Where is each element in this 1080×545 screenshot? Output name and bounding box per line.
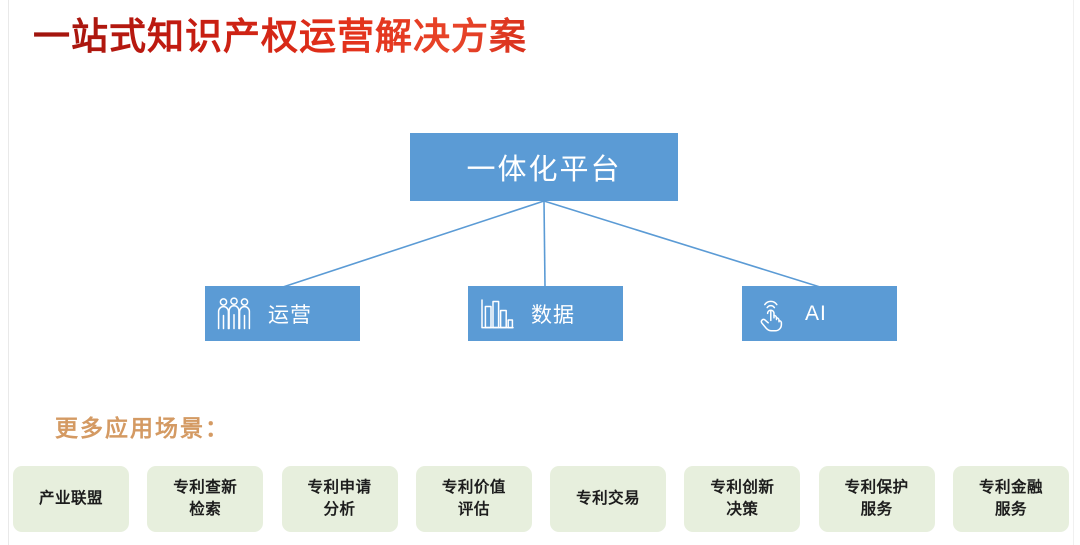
connector-line-operations	[283, 201, 544, 287]
touch-hand-icon	[751, 294, 791, 334]
connector-lines	[0, 0, 1080, 460]
scenario-chip[interactable]: 专利保护 服务	[819, 466, 935, 532]
scenario-chip-label: 专利交易	[576, 488, 640, 510]
scenario-chip-label: 专利申请 分析	[308, 477, 372, 521]
scenario-chip-list: 产业联盟 专利查新 检索 专利申请 分析 专利价值 评估 专利交易 专利创新 决…	[13, 466, 1069, 532]
leaf-node-operations[interactable]: 运营	[205, 286, 360, 341]
root-node-platform[interactable]: 一体化平台	[410, 133, 678, 201]
platform-diagram: 一体化平台 运营	[0, 0, 1080, 460]
scenario-chip-label: 专利创新 决策	[710, 477, 774, 521]
scenario-chip[interactable]: 产业联盟	[13, 466, 129, 532]
scenario-chip-label: 专利金融 服务	[979, 477, 1043, 521]
scenario-chip-label: 产业联盟	[39, 488, 103, 510]
three-people-icon	[214, 294, 254, 334]
scenario-chip[interactable]: 专利申请 分析	[282, 466, 398, 532]
scenario-chip-label: 专利保护 服务	[845, 477, 909, 521]
scenario-chip[interactable]: 专利查新 检索	[147, 466, 263, 532]
leaf-node-label: 运营	[268, 299, 312, 329]
root-node-label: 一体化平台	[466, 146, 621, 188]
scenario-chip[interactable]: 专利价值 评估	[416, 466, 532, 532]
scenario-chip-label: 专利价值 评估	[442, 477, 506, 521]
scenario-chip[interactable]: 专利交易	[550, 466, 666, 532]
connector-line-data	[544, 201, 545, 287]
leaf-node-label: AI	[805, 302, 827, 326]
scenario-chip-label: 专利查新 检索	[173, 477, 237, 521]
leaf-node-data[interactable]: 数据	[468, 286, 623, 341]
leaf-node-ai[interactable]: AI	[742, 286, 897, 341]
scenarios-heading: 更多应用场景：	[55, 409, 230, 443]
connector-line-ai	[544, 201, 820, 287]
scenario-chip[interactable]: 专利创新 决策	[684, 466, 800, 532]
scenario-chip[interactable]: 专利金融 服务	[953, 466, 1069, 532]
leaf-node-label: 数据	[531, 299, 575, 329]
bar-chart-icon	[477, 294, 517, 334]
slide-canvas: 一站式知识产权运营解决方案 一体化平台	[0, 0, 1080, 545]
